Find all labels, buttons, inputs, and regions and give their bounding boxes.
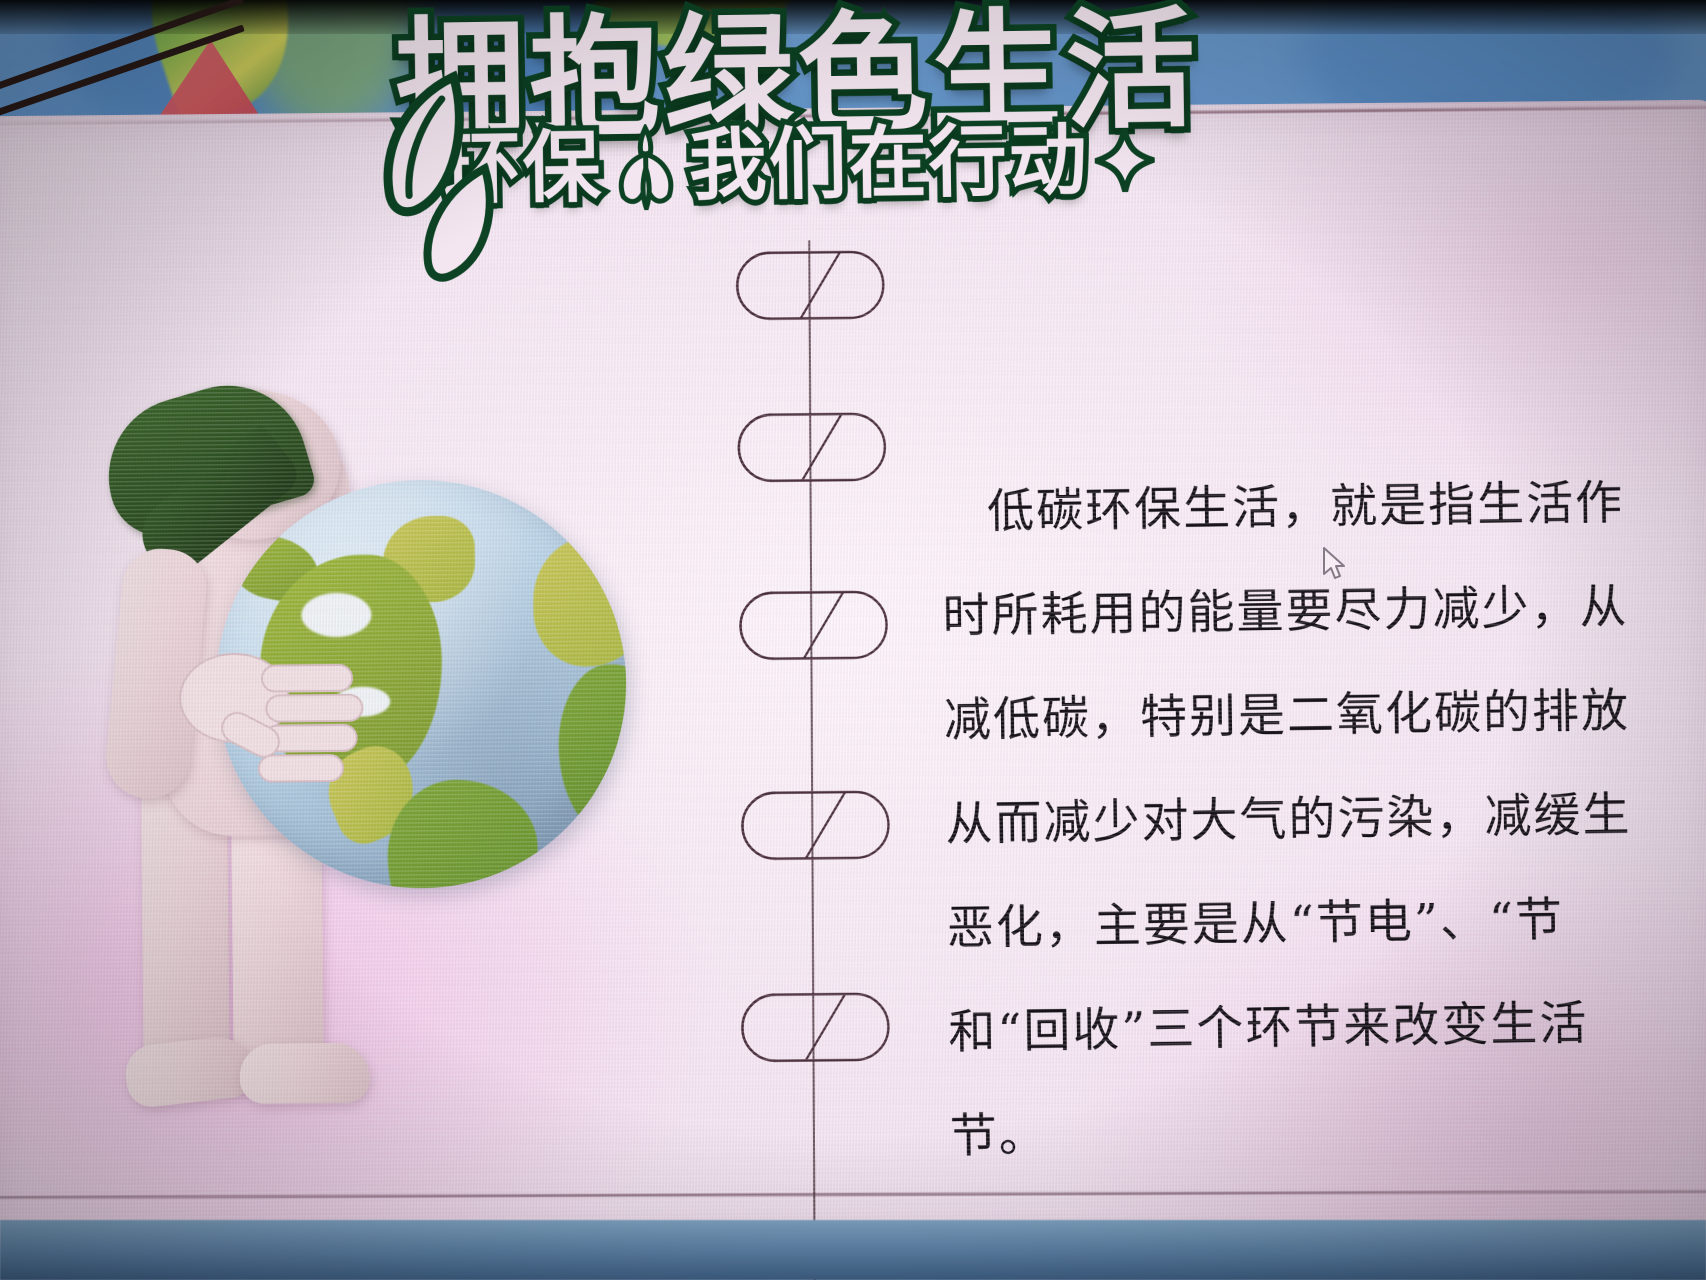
body-line: 从而减少对大气的污染，减缓生 — [945, 761, 1706, 878]
character-hand — [176, 649, 368, 831]
spiral-binding-ring-icon — [731, 586, 894, 666]
sparkle-star-icon — [1094, 127, 1155, 194]
body-line: 和“回收”三个环节来改变生活 — [948, 968, 1706, 1085]
clay-character-with-globe — [75, 368, 642, 1133]
subtitle-part-2: 我们在行动 — [688, 122, 1089, 206]
body-line: 恶化，主要是从“节电”、“节 — [946, 865, 1706, 982]
body-line: 减低碳，特别是二氧化碳的排放 — [943, 657, 1706, 774]
character-foot — [240, 1043, 371, 1104]
bottom-wall-band — [0, 1220, 1706, 1280]
globe-landmass — [533, 536, 628, 667]
spiral-binding-ring-icon — [733, 786, 896, 866]
screenshot-root: 低碳环保生活，就是指生活作 时所耗用的能量要尽力减少，从 减低碳，特别是二氧化碳… — [0, 0, 1706, 1280]
globe-landmass — [558, 664, 628, 841]
body-line: 节。 — [949, 1072, 1706, 1189]
leaf-icon — [417, 162, 501, 283]
notebook-spine-line — [808, 240, 816, 1280]
flourish-ornament-icon — [608, 124, 683, 211]
slide-bottom-edge — [0, 1190, 1706, 1199]
mouse-cursor-icon — [1322, 546, 1348, 582]
slide-title-block: 拥抱绿色生活 环保 我们在行动 — [367, 4, 1230, 214]
projected-slide: 低碳环保生活，就是指生活作 时所耗用的能量要尽力减少，从 减低碳，特别是二氧化碳… — [0, 100, 1706, 1247]
